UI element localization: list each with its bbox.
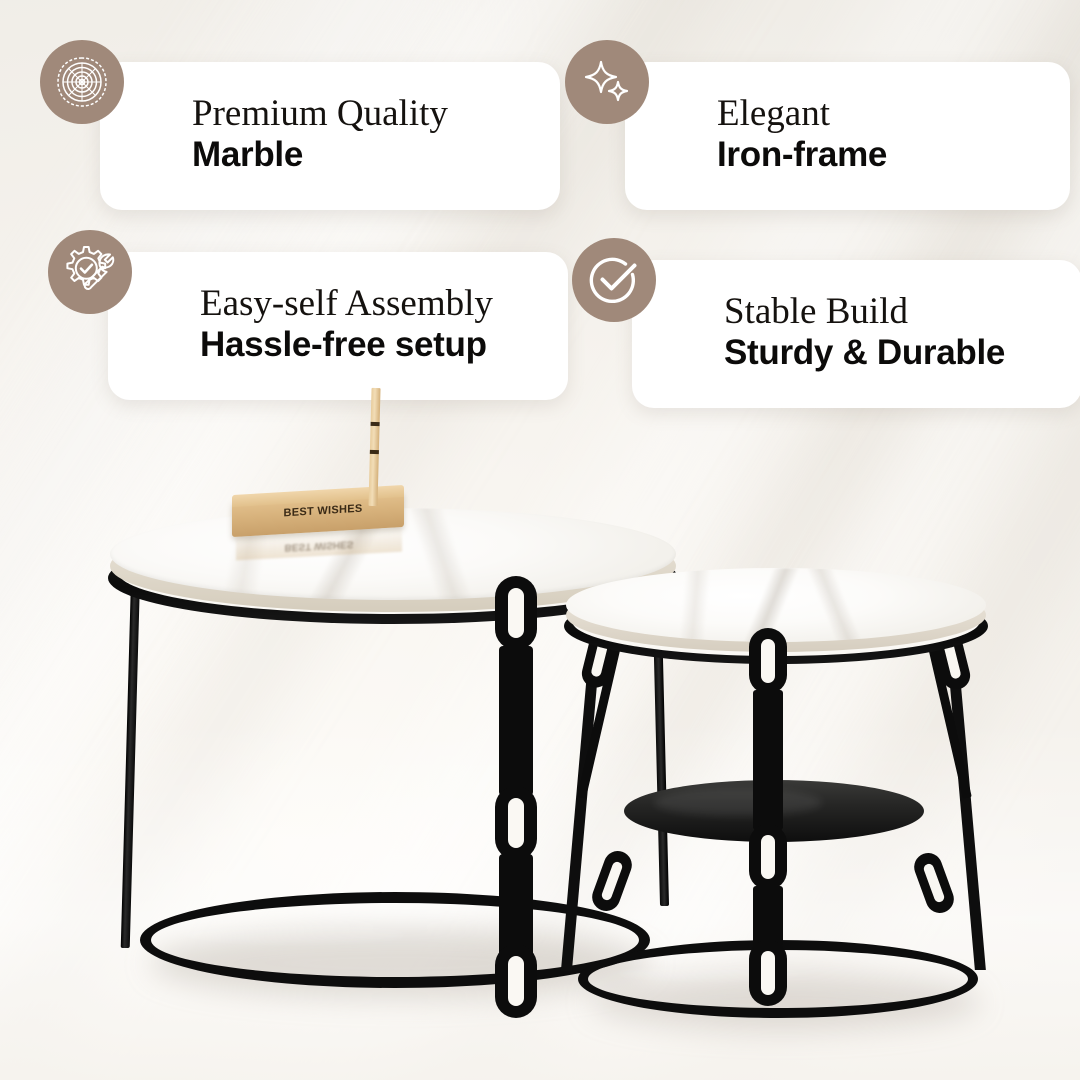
- post-loop: [749, 940, 787, 1006]
- sparkle-icon: [565, 40, 649, 124]
- badge-title: Premium Quality: [192, 95, 534, 134]
- small-table-front-post: [742, 628, 794, 1028]
- post-loop: [495, 786, 537, 860]
- small-table-loop: [910, 849, 958, 917]
- badge-card: Stable Build Sturdy & Durable: [632, 260, 1080, 408]
- post-loop: [749, 628, 787, 694]
- product-photo: BEST WISHES BEST WISHES: [0, 380, 1080, 1080]
- badge-title: Stable Build: [724, 293, 1056, 332]
- post-loop: [749, 824, 787, 890]
- post-loop: [495, 944, 537, 1018]
- post-loop: [495, 576, 537, 650]
- badge-subtitle: Sturdy & Durable: [724, 334, 1056, 373]
- badge-card: Elegant Iron-frame: [625, 62, 1070, 210]
- large-table-front-post: [487, 576, 545, 1016]
- badge-subtitle: Hassle-free setup: [200, 326, 542, 365]
- small-table-loop: [588, 847, 636, 915]
- wooden-card-holder: BEST WISHES: [232, 488, 404, 532]
- post-segment: [753, 886, 783, 946]
- product-feature-graphic: BEST WISHES BEST WISHES Premium Quality …: [0, 0, 1080, 1080]
- large-table-leg-left: [121, 570, 141, 948]
- gear-wrench-check-icon: [48, 230, 132, 314]
- post-segment: [753, 690, 783, 830]
- badge-title: Elegant: [717, 95, 1044, 134]
- badge-subtitle: Marble: [192, 136, 534, 175]
- check-circle-icon: [572, 238, 656, 322]
- badge-card: Easy-self Assembly Hassle-free setup: [108, 252, 568, 400]
- tree-rings-icon: [40, 40, 124, 124]
- badge-card: Premium Quality Marble: [100, 62, 560, 210]
- post-segment: [499, 646, 533, 796]
- feature-badge-group: Premium Quality Marble Elegant Iron-f: [0, 0, 1080, 400]
- badge-subtitle: Iron-frame: [717, 136, 1044, 175]
- badge-title: Easy-self Assembly: [200, 285, 542, 324]
